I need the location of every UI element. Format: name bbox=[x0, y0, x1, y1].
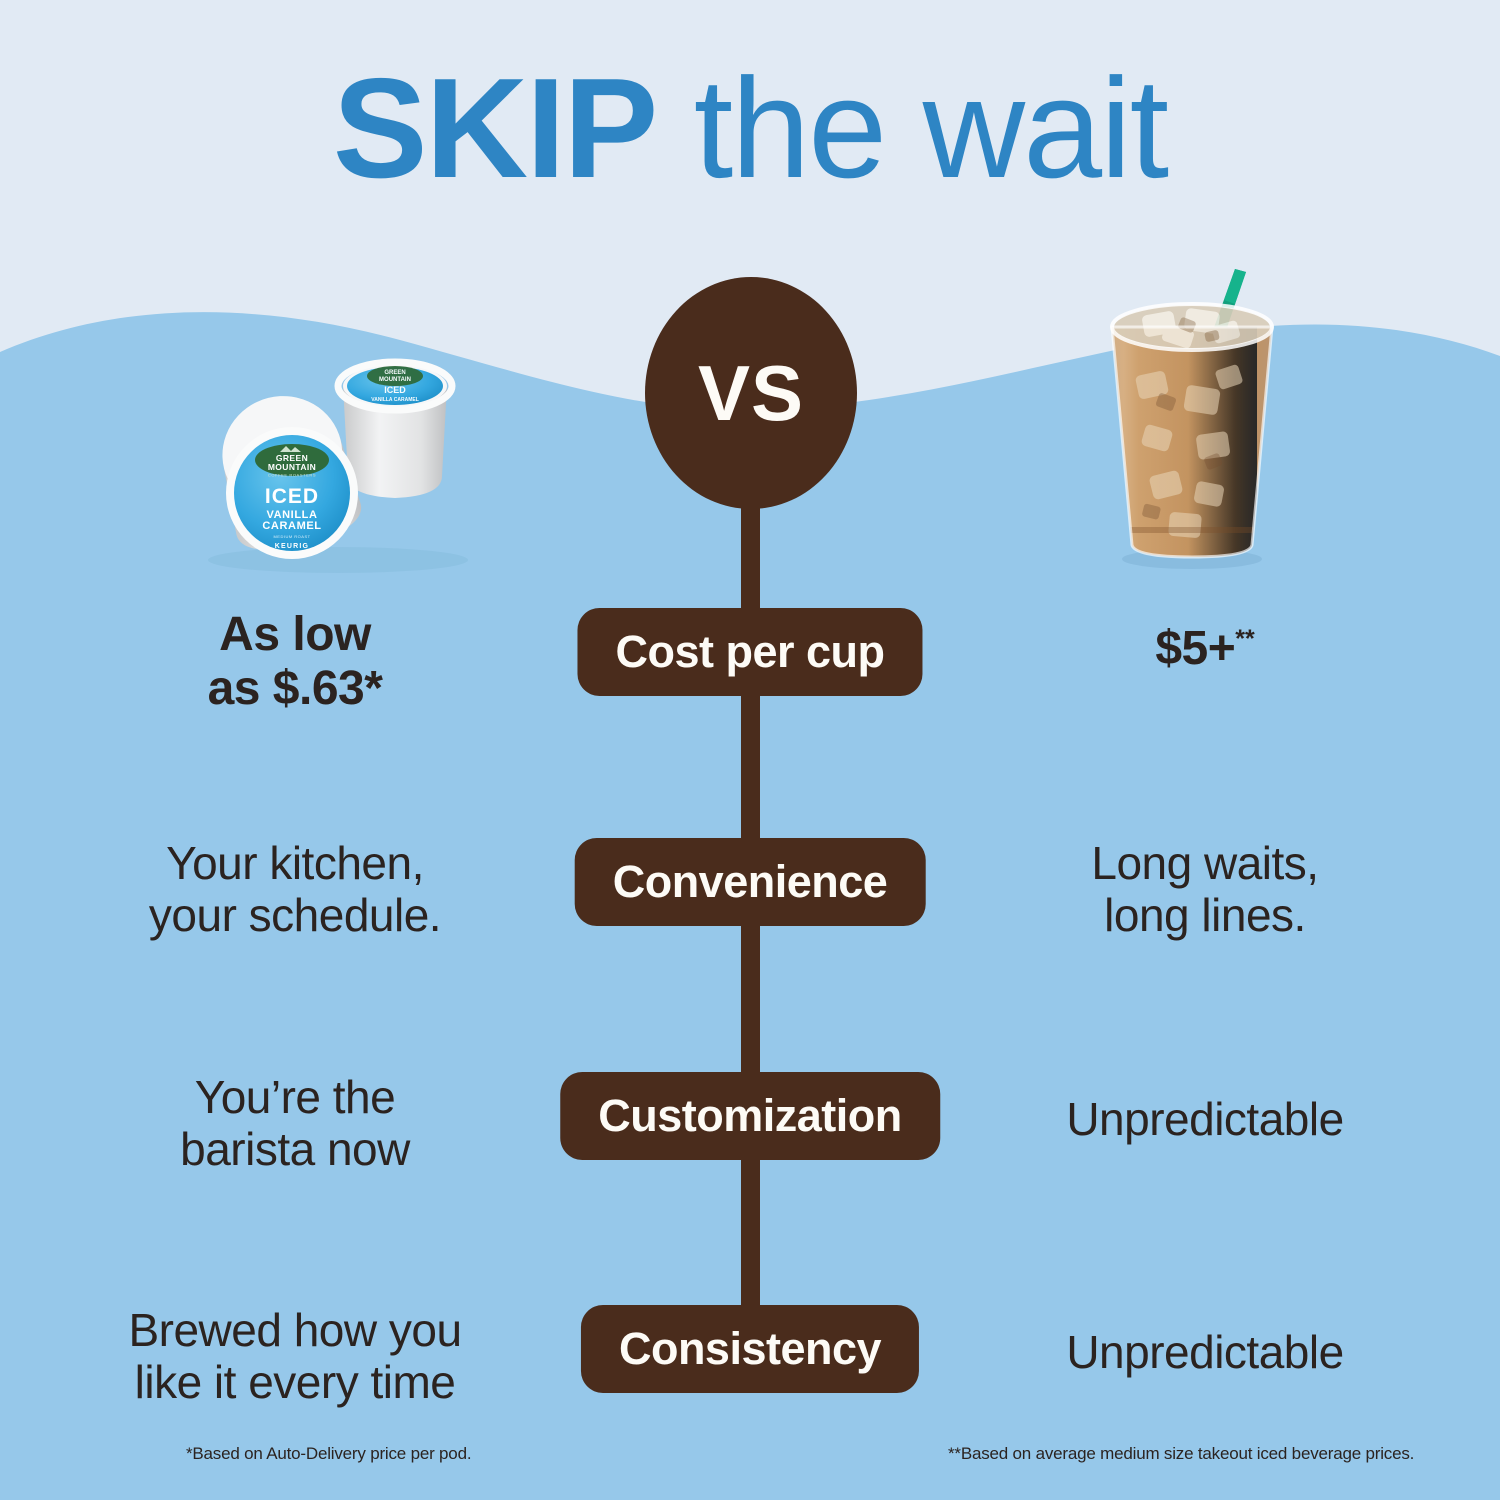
row-left-value: Your kitchen, your schedule. bbox=[60, 838, 530, 941]
feature-pill-convenience: Convenience bbox=[575, 838, 926, 926]
row-left-line: Brewed how you bbox=[60, 1305, 530, 1357]
row-left-line: You’re the bbox=[60, 1072, 530, 1124]
svg-text:MEDIUM ROAST: MEDIUM ROAST bbox=[273, 534, 310, 539]
svg-text:ICED: ICED bbox=[265, 485, 319, 508]
feature-pill-consistency: Consistency bbox=[581, 1305, 919, 1393]
svg-text:MOUNTAIN: MOUNTAIN bbox=[268, 462, 316, 472]
row-right-value: Long waits, long lines. bbox=[970, 838, 1440, 941]
row-right-value: $5+** bbox=[970, 622, 1440, 676]
row-right-text: Unpredictable bbox=[1066, 1326, 1343, 1378]
row-left-value: You’re the barista now bbox=[60, 1072, 530, 1175]
headline-light: the wait bbox=[656, 49, 1167, 208]
svg-text:CARAMEL: CARAMEL bbox=[262, 520, 321, 532]
svg-text:VANILLA CARAMEL: VANILLA CARAMEL bbox=[371, 397, 419, 403]
feature-pill-cost-per-cup: Cost per cup bbox=[577, 608, 922, 696]
svg-text:MOUNTAIN: MOUNTAIN bbox=[379, 377, 411, 383]
row-right-text: Unpredictable bbox=[1066, 1093, 1343, 1145]
row-left-line: your schedule. bbox=[60, 890, 530, 942]
row-left-line: like it every time bbox=[60, 1357, 530, 1409]
vs-badge: VS bbox=[645, 277, 857, 509]
row-right-value: Unpredictable bbox=[970, 1327, 1440, 1379]
feature-pill-label: Convenience bbox=[613, 856, 888, 908]
footnote-right: **Based on average medium size takeout i… bbox=[948, 1444, 1414, 1464]
svg-text:GREEN: GREEN bbox=[384, 370, 405, 376]
iced-coffee-cup-image bbox=[1085, 255, 1300, 575]
row-right-superscript: ** bbox=[1235, 625, 1254, 653]
k-cup-pods-image: GREEN MOUNTAIN ICED VANILLA CARAMEL GREE… bbox=[188, 348, 488, 573]
feature-pill-label: Consistency bbox=[619, 1323, 881, 1375]
promo-comparison-graphic: SKIP the wait GREEN bbox=[0, 0, 1500, 1500]
page-title: SKIP the wait bbox=[0, 58, 1500, 200]
row-left-line: barista now bbox=[60, 1124, 530, 1176]
feature-pill-label: Customization bbox=[598, 1090, 902, 1142]
row-right-value: Unpredictable bbox=[970, 1094, 1440, 1146]
svg-text:COFFEE ROASTERS: COFFEE ROASTERS bbox=[268, 473, 316, 478]
svg-text:ICED: ICED bbox=[384, 385, 406, 395]
row-left-value: As low as $.63* bbox=[60, 608, 530, 716]
svg-text:KEURIG: KEURIG bbox=[275, 543, 309, 550]
row-left-line: as $.63* bbox=[60, 662, 530, 716]
feature-pill-label: Cost per cup bbox=[615, 626, 884, 678]
row-left-value: Brewed how you like it every time bbox=[60, 1305, 530, 1408]
vs-label: VS bbox=[698, 354, 804, 432]
row-right-line: Long waits, bbox=[970, 838, 1440, 890]
row-right-text: $5+ bbox=[1155, 622, 1235, 675]
row-right-line: long lines. bbox=[970, 890, 1440, 942]
footnote-left: *Based on Auto-Delivery price per pod. bbox=[186, 1444, 471, 1464]
feature-pill-customization: Customization bbox=[560, 1072, 940, 1160]
headline-bold: SKIP bbox=[333, 49, 656, 208]
row-left-line: Your kitchen, bbox=[60, 838, 530, 890]
row-left-line: As low bbox=[60, 608, 530, 662]
